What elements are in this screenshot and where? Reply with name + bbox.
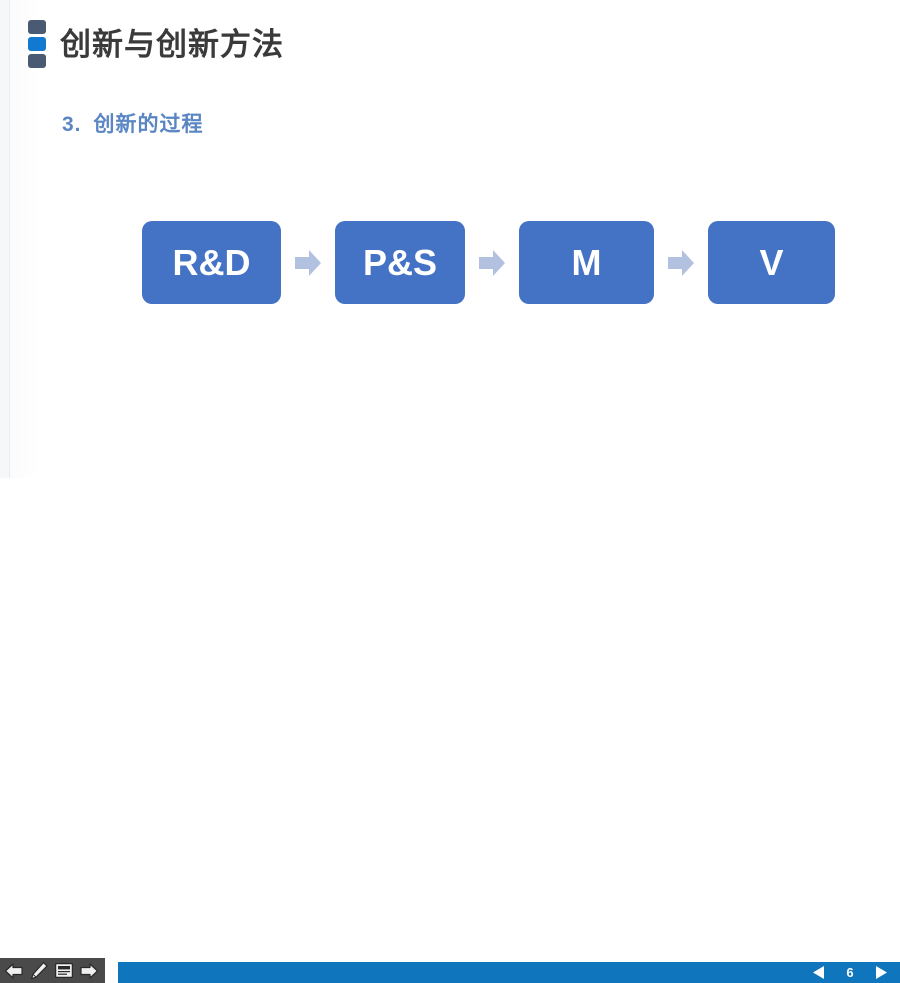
slide-header: 创新与创新方法 xyxy=(28,16,284,72)
pencil-icon[interactable] xyxy=(26,960,51,982)
right-arrow-icon-1 xyxy=(295,248,321,278)
slide-left-edge xyxy=(9,0,10,478)
slide-canvas: 创新与创新方法 3.创新的过程 R&D P&S xyxy=(0,0,900,478)
progress-navigation-bar[interactable]: 6 xyxy=(118,962,900,983)
flow-step-label-3: M xyxy=(572,242,602,284)
section-label: 创新的过程 xyxy=(94,113,204,136)
flow-step-label-4: V xyxy=(759,242,783,284)
flow-step-label-2: P&S xyxy=(363,242,437,284)
notes-icon[interactable] xyxy=(51,960,76,982)
page-title: 创新与创新方法 xyxy=(60,29,284,60)
triangle-left-icon[interactable] xyxy=(808,962,830,983)
header-mark-group xyxy=(28,20,46,68)
flow-step-box-2: P&S xyxy=(335,221,465,304)
flow-step-box-1: R&D xyxy=(142,221,281,304)
square-icon-middle xyxy=(28,37,46,51)
forward-arrow-icon[interactable] xyxy=(76,960,101,982)
process-flow-diagram: R&D P&S M xyxy=(142,221,835,304)
presentation-slide: 创新与创新方法 3.创新的过程 R&D P&S xyxy=(0,0,900,505)
page-number: 6 xyxy=(836,965,864,980)
triangle-right-icon[interactable] xyxy=(870,962,892,983)
presentation-toolbar[interactable] xyxy=(0,958,105,983)
right-arrow-icon-2 xyxy=(479,248,505,278)
section-subtitle: 3.创新的过程 xyxy=(62,108,204,138)
back-arrow-icon[interactable] xyxy=(1,960,26,982)
flow-step-box-3: M xyxy=(519,221,654,304)
right-arrow-icon-3 xyxy=(668,248,694,278)
flow-step-label-1: R&D xyxy=(173,242,251,284)
section-number: 3. xyxy=(62,113,82,136)
flow-step-box-4: V xyxy=(708,221,835,304)
bottom-bar: 6 xyxy=(0,478,900,505)
square-icon-bottom xyxy=(28,54,46,68)
square-icon-top xyxy=(28,20,46,34)
